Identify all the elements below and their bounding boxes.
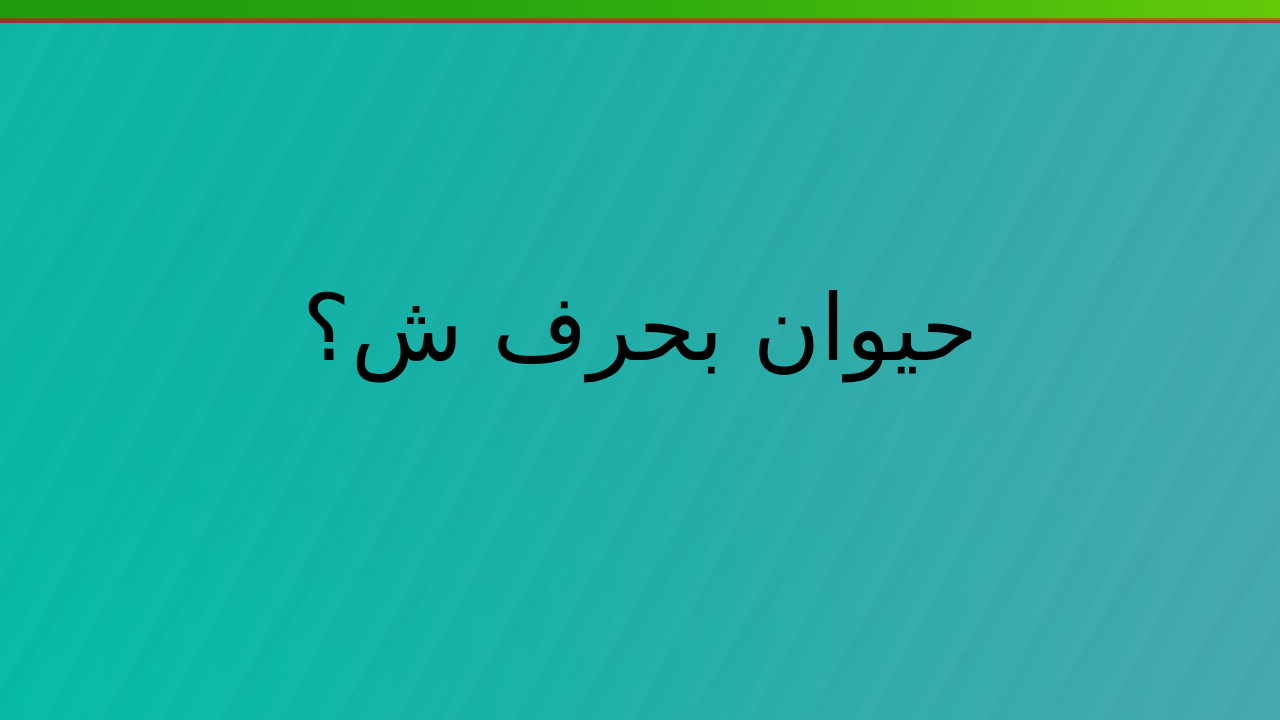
top-green-bar (0, 0, 1280, 18)
slide-headline: حيوان بحرف ش؟ (302, 279, 978, 378)
top-maroon-line (0, 20, 1280, 23)
top-decoration-bars (0, 0, 1280, 23)
slide-canvas: حيوان بحرف ش؟ (0, 0, 1280, 720)
headline-container: حيوان بحرف ش؟ (0, 0, 1280, 720)
